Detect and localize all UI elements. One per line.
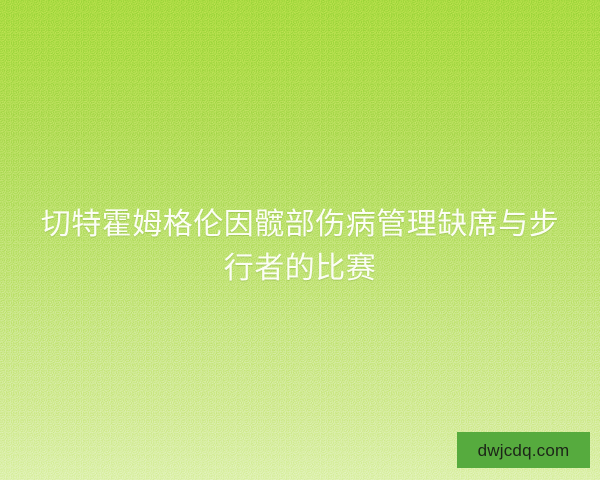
- site-watermark-label: dwjcdq.com: [478, 442, 570, 459]
- headline-title: 切特霍姆格伦因髋部伤病管理缺席与步行者的比赛: [0, 203, 600, 291]
- article-thumbnail-card: 切特霍姆格伦因髋部伤病管理缺席与步行者的比赛 dwjcdq.com: [0, 0, 600, 480]
- site-watermark-badge: dwjcdq.com: [457, 432, 590, 468]
